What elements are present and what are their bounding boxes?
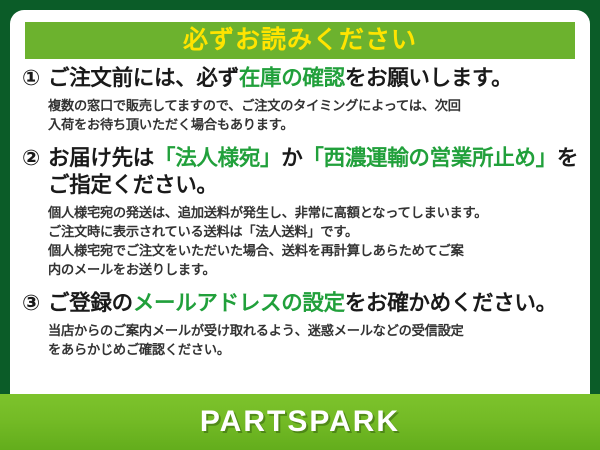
heading-text: ご登録の	[48, 291, 133, 315]
notice-item-marker: ①	[22, 65, 40, 93]
title-banner: 必ずお読みください	[25, 22, 575, 59]
heading-highlight: 「西濃運輸の営業所止め」	[302, 146, 556, 170]
heading-highlight: メールアドレスの設定	[133, 291, 345, 315]
notice-item-description-line: 内のメールをお送りします。	[48, 260, 580, 279]
notice-item-heading: ③ご登録のメールアドレスの設定をお確かめください。	[22, 290, 580, 318]
notice-item-description: 当店からのご案内メールが受け取れるよう、迷惑メールなどの受信設定をあらかじめご確…	[22, 321, 580, 359]
notice-item-heading: ②お届け先は「法人様宛」か「西濃運輸の営業所止め」をご指定ください。	[22, 145, 580, 200]
notice-item-description-line: をあらかじめご確認ください。	[48, 340, 580, 359]
notice-item: ①ご注文前には、必ず在庫の確認をお願いします。複数の窓口で販売してますので、ご注…	[22, 65, 580, 134]
heading-text: をお願いします。	[345, 66, 512, 90]
white-content-card: 必ずお読みください ①ご注文前には、必ず在庫の確認をお願いします。複数の窓口で販…	[10, 10, 590, 410]
notice-item-marker: ②	[22, 145, 40, 173]
notice-item-list: ①ご注文前には、必ず在庫の確認をお願いします。複数の窓口で販売してますので、ご注…	[10, 65, 590, 359]
banner-title: 必ずお読みください	[183, 28, 417, 53]
heading-text: をお確かめください。	[345, 291, 557, 315]
notice-card: 必ずお読みください ①ご注文前には、必ず在庫の確認をお願いします。複数の窓口で販…	[0, 0, 600, 450]
notice-item-description: 複数の窓口で販売してますので、ご注文のタイミングによっては、次回入荷をお待ち頂い…	[22, 96, 580, 134]
notice-item-heading: ①ご注文前には、必ず在庫の確認をお願いします。	[22, 65, 580, 93]
notice-item-description-line: 個人様宅宛でご注文をいただいた場合、送料を再計算しあらためてご案	[48, 241, 580, 260]
notice-item-description-line: ご注文時に表示されている送料は「法人送料」です。	[48, 222, 580, 241]
notice-item-description-line: 当店からのご案内メールが受け取れるよう、迷惑メールなどの受信設定	[48, 321, 580, 340]
notice-item-description-line: 複数の窓口で販売してますので、ご注文のタイミングによっては、次回	[48, 96, 580, 115]
notice-item: ②お届け先は「法人様宛」か「西濃運輸の営業所止め」をご指定ください。個人様宅宛の…	[22, 145, 580, 280]
notice-item-marker: ③	[22, 290, 40, 318]
heading-text: か	[281, 146, 302, 170]
notice-item: ③ご登録のメールアドレスの設定をお確かめください。当店からのご案内メールが受け取…	[22, 290, 580, 359]
heading-highlight: 在庫の確認	[239, 66, 345, 90]
heading-text: お届け先は	[48, 146, 154, 170]
notice-item-description: 個人様宅宛の発送は、追加送料が発生し、非常に高額となってしまいます。ご注文時に表…	[22, 203, 580, 280]
heading-highlight: 「法人様宛」	[154, 146, 281, 170]
brand-name: PARTSPARK	[200, 407, 400, 437]
heading-text: ご注文前には、必ず	[48, 66, 239, 90]
notice-item-description-line: 個人様宅宛の発送は、追加送料が発生し、非常に高額となってしまいます。	[48, 203, 580, 222]
notice-item-description-line: 入荷をお待ち頂いただく場合もあります。	[48, 115, 580, 134]
footer-band: PARTSPARK	[0, 394, 600, 450]
